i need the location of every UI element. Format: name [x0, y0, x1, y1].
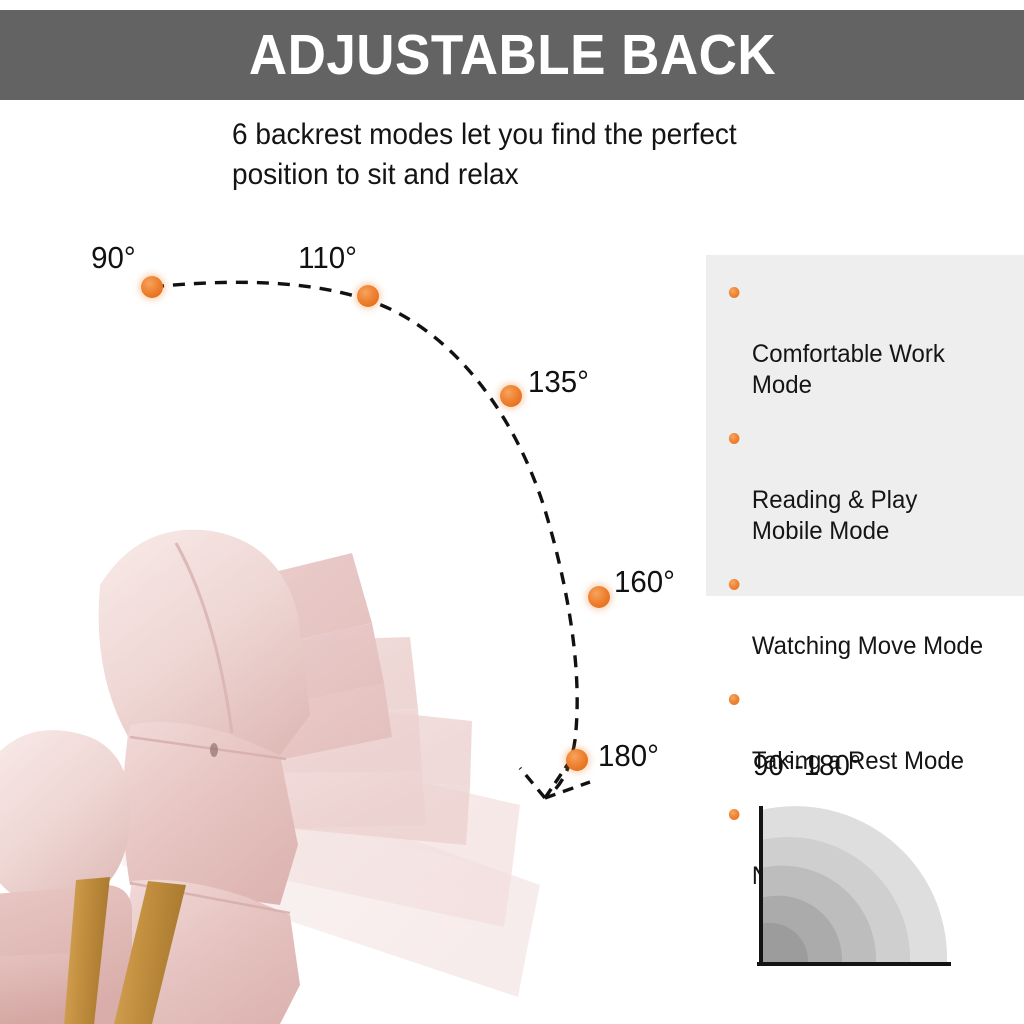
angle-dot-180[interactable] [566, 749, 588, 771]
bullet-icon [729, 433, 740, 444]
quarter-circle-icon [750, 804, 962, 976]
list-item-label: Reading & Play Mobile Mode [752, 486, 917, 545]
list-item[interactable]: Watching Move Mode [726, 569, 1004, 662]
subtitle-text: 6 backrest modes let you find the perfec… [232, 115, 840, 195]
angle-dot-110[interactable] [357, 285, 379, 307]
angle-dot-90[interactable] [141, 276, 163, 298]
angle-dot-160[interactable] [588, 586, 610, 608]
angle-label-135: 135° [528, 366, 589, 397]
recline-arc-diagram: 90° 110° 135° 160° 180° [0, 180, 720, 860]
angle-label-180: 180° [598, 740, 659, 771]
angle-range-diagram: 90°-180° [742, 752, 972, 982]
angle-range-label: 90°-180° [753, 752, 861, 781]
angle-label-90: 90° [91, 242, 136, 273]
header-banner: ADJUSTABLE BACK [0, 10, 1024, 100]
bullet-icon [729, 579, 740, 590]
mode-list-panel: Comfortable Work Mode Reading & Play Mob… [706, 255, 1024, 596]
angle-label-160: 160° [614, 566, 675, 597]
angle-label-110: 110° [298, 242, 357, 273]
angle-dot-135[interactable] [500, 385, 522, 407]
list-item[interactable]: Comfortable Work Mode [726, 277, 1004, 401]
bullet-icon [729, 287, 740, 298]
bullet-icon [729, 694, 740, 705]
list-item-label: Watching Move Mode [752, 632, 983, 660]
list-item-label: Comfortable Work Mode [752, 340, 945, 399]
page-title: ADJUSTABLE BACK [248, 27, 775, 84]
infographic-root: 90° 110° 135° 160° 180° ADJUSTABLE BACK … [0, 0, 1024, 1024]
bullet-icon [729, 809, 740, 820]
list-item[interactable]: Reading & Play Mobile Mode [726, 423, 1004, 547]
